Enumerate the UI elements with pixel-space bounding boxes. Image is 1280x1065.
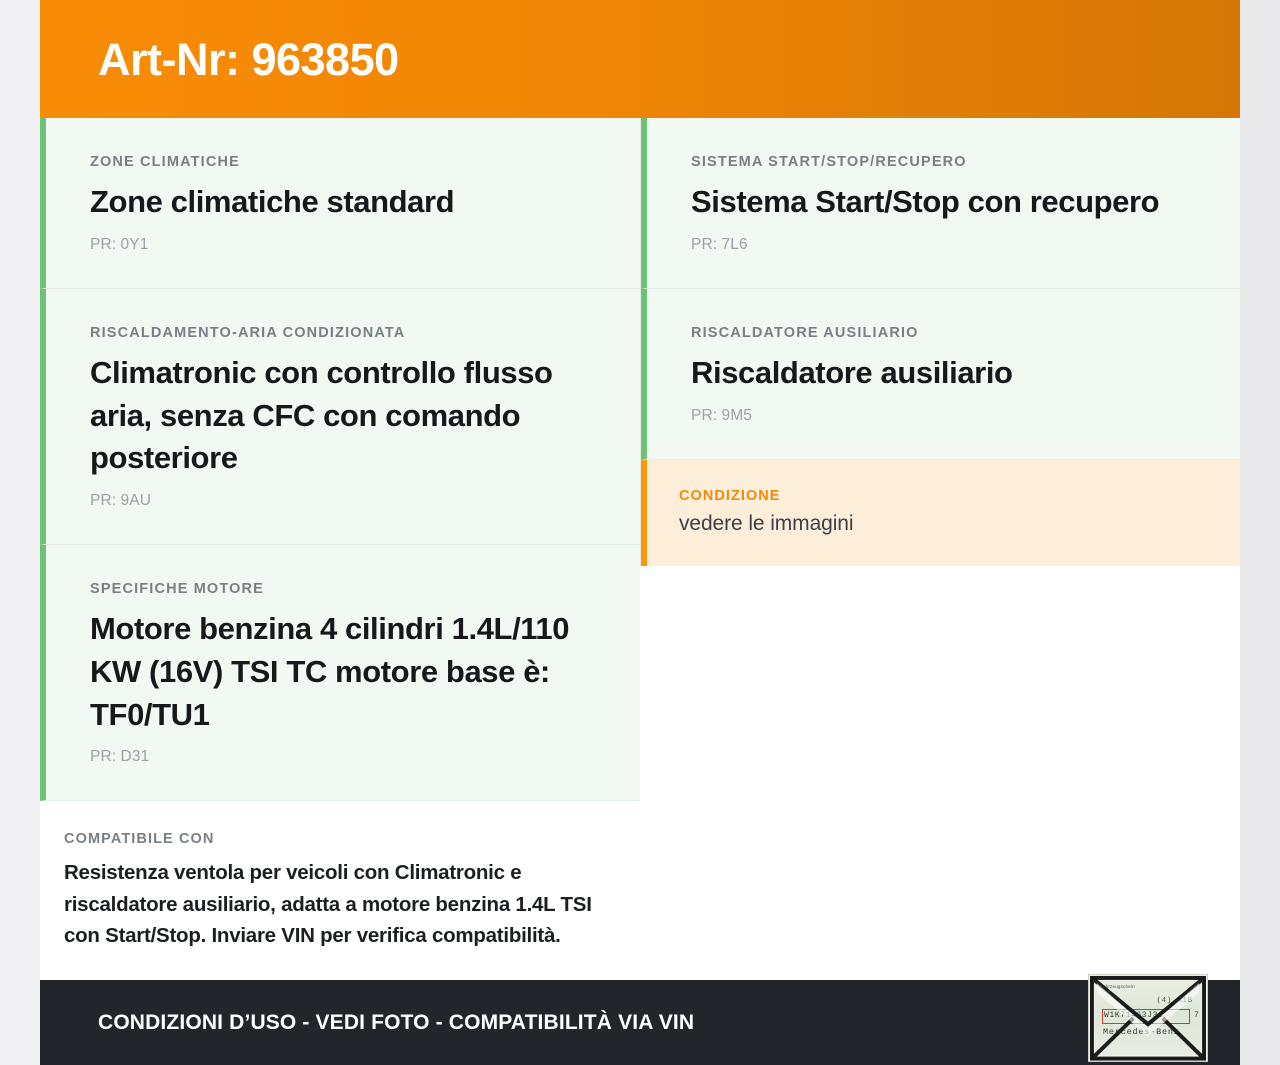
page-title: Art-Nr: 963850 (98, 37, 399, 82)
compatibility-label: COMPATIBILE CON (64, 831, 600, 847)
spec-card-label: SISTEMA START/STOP/RECUPERO (691, 154, 1200, 170)
spec-card-label: SPECIFICHE MOTORE (90, 581, 600, 597)
envelope-icon (1089, 975, 1207, 1062)
spec-card-pr-code: PR: 9M5 (691, 407, 1200, 425)
spec-card-label: RISCALDAMENTO-ARIA CONDIZIONATA (90, 325, 600, 341)
spec-card-label: RISCALDATORE AUSILIARIO (691, 325, 1200, 341)
spec-card-pr-code: PR: 0Y1 (90, 236, 600, 254)
footer-text: CONDIZIONI D’USO - VEDI FOTO - COMPATIBI… (98, 1011, 694, 1035)
condition-value: vedere le immagini (679, 512, 1200, 536)
spec-card-title: Riscaldatore ausiliario (691, 352, 1200, 395)
spec-card-pr-code: PR: 7L6 (691, 236, 1200, 254)
spec-card-label: ZONE CLIMATICHE (90, 154, 600, 170)
spec-card-pr-code: PR: 9AU (90, 492, 600, 510)
vin-document-thumbnail[interactable]: Fahrzeugschein (4) A1B W1K71463J31 7 Mer… (1088, 974, 1208, 1062)
spec-card-sistema-start-stop[interactable]: SISTEMA START/STOP/RECUPERO Sistema Star… (641, 118, 1240, 289)
condition-card[interactable]: CONDIZIONE vedere le immagini (641, 460, 1240, 566)
header-bar: Art-Nr: 963850 (40, 0, 1240, 118)
sheet: Art-Nr: 963850 ZONE CLIMATICHE Zone clim… (40, 0, 1240, 1065)
product-spec-sheet: Art-Nr: 963850 ZONE CLIMATICHE Zone clim… (0, 0, 1280, 1065)
footer-bar: CONDIZIONI D’USO - VEDI FOTO - COMPATIBI… (40, 980, 1240, 1065)
left-column: ZONE CLIMATICHE Zone climatiche standard… (40, 118, 640, 983)
compatibility-text: Resistenza ventola per veicoli con Clima… (64, 857, 600, 950)
spec-card-title: Motore benzina 4 cilindri 1.4L/110 KW (1… (90, 608, 600, 736)
spec-columns: ZONE CLIMATICHE Zone climatiche standard… (40, 118, 1240, 980)
spec-card-pr-code: PR: D31 (90, 748, 600, 766)
spec-card-riscaldamento-aria-condizionata[interactable]: RISCALDAMENTO-ARIA CONDIZIONATA Climatro… (40, 289, 640, 545)
spec-card-zone-climatiche[interactable]: ZONE CLIMATICHE Zone climatiche standard… (40, 118, 640, 289)
spec-card-title: Climatronic con controllo flusso aria, s… (90, 352, 600, 480)
condition-label: CONDIZIONE (679, 488, 1200, 504)
spec-card-title: Zone climatiche standard (90, 181, 600, 224)
spec-card-riscaldatore-ausiliario[interactable]: RISCALDATORE AUSILIARIO Riscaldatore aus… (641, 289, 1240, 460)
compatibility-block: COMPATIBILE CON Resistenza ventola per v… (40, 801, 640, 982)
right-column: SISTEMA START/STOP/RECUPERO Sistema Star… (640, 118, 1240, 566)
spec-card-title: Sistema Start/Stop con recupero (691, 181, 1200, 224)
spec-card-specifiche-motore[interactable]: SPECIFICHE MOTORE Motore benzina 4 cilin… (40, 545, 640, 801)
